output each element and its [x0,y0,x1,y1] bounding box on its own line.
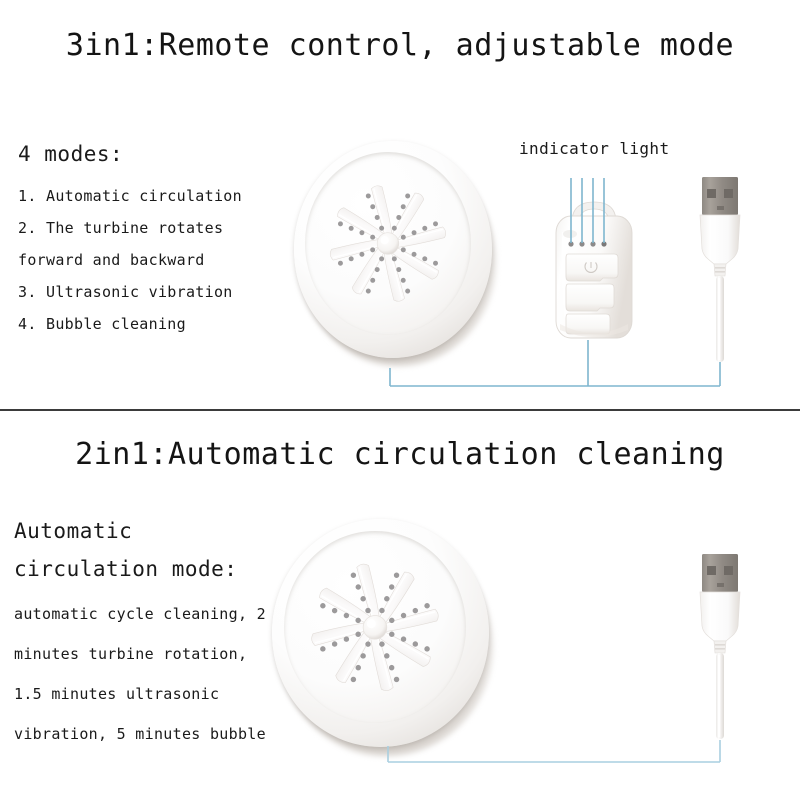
turbine-inner-face [284,531,466,724]
turbine-inner-face [305,152,471,335]
turbine-washer-bottom [270,518,498,758]
infographic-page: 3in1:Remote control, adjustable mode 4 m… [0,0,800,800]
turbine-outer-rim [272,519,489,747]
auto-heading-line-2: circulation mode: [14,550,304,588]
remote-control[interactable] [548,192,640,340]
modes-heading: 4 modes: [18,142,288,166]
auto-body-line-1: automatic cycle cleaning, 2 [14,594,304,634]
usb-connector-bottom [690,552,750,752]
turbine-blades-icon [305,152,471,335]
turbine-washer-top [292,140,500,368]
indicator-light-label: indicator light [519,139,670,158]
modes-text-block: 4 modes: 1. Automatic circulation 2. The… [18,142,288,340]
auto-body-line-3: 1.5 minutes ultrasonic [14,674,304,714]
mode-item-2-continued: forward and backward [18,244,288,276]
mode-item-1: 1. Automatic circulation [18,180,288,212]
auto-body-line-4: vibration, 5 minutes bubble [14,714,304,754]
usb-connector-top [690,175,750,375]
remote-control-icon [548,192,640,340]
mode-item-2: 2. The turbine rotates [18,212,288,244]
auto-body-line-2: minutes turbine rotation, [14,634,304,674]
automatic-mode-text-block: Automatic circulation mode: automatic cy… [14,512,304,754]
turbine-blades-icon [284,531,466,724]
mode-item-3: 3. Ultrasonic vibration [18,276,288,308]
turbine-outer-rim [294,141,492,358]
section-divider [0,409,800,411]
bottom-section-title: 2in1:Automatic circulation cleaning [0,437,800,472]
mode-item-4: 4. Bubble cleaning [18,308,288,340]
usb-plug-icon [690,552,750,752]
auto-heading-line-1: Automatic [14,512,304,550]
usb-plug-icon [690,175,750,375]
top-section-title: 3in1:Remote control, adjustable mode [0,28,800,63]
